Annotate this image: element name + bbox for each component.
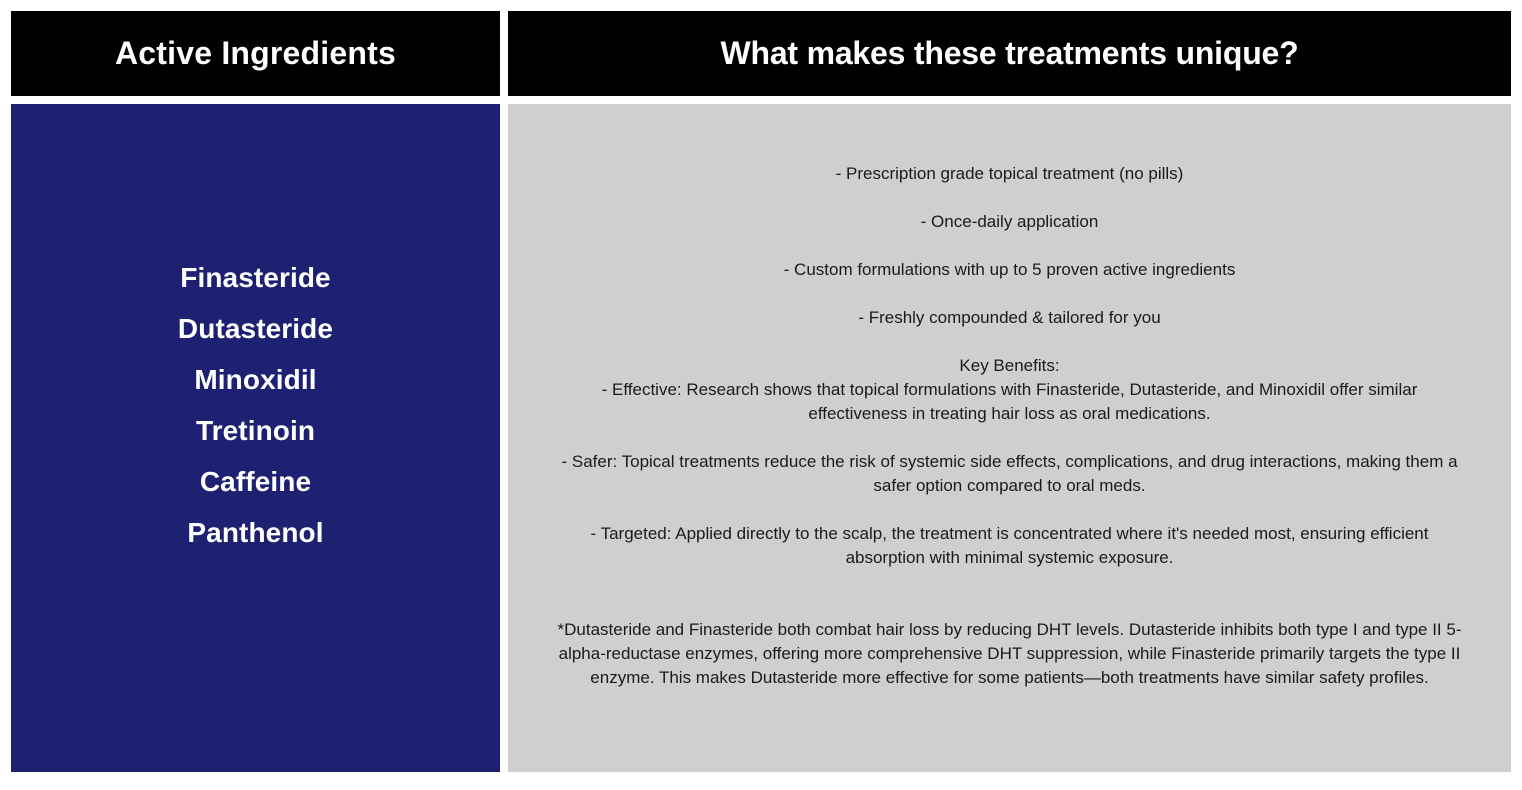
list-item: Panthenol — [187, 507, 323, 558]
column-header-active-ingredients: Active Ingredients — [11, 11, 500, 96]
table-header-row: Active Ingredients What makes these trea… — [11, 11, 1511, 96]
list-item: Finasteride — [180, 252, 330, 303]
column-header-unique: What makes these treatments unique? — [508, 11, 1511, 96]
list-item: Dutasteride — [178, 303, 333, 354]
cell-active-ingredients: Finasteride Dutasteride Minoxidil Tretin… — [11, 104, 500, 772]
benefit-item-effective: - Effective: Research shows that topical… — [560, 378, 1460, 426]
benefit-item-safer: - Safer: Topical treatments reduce the r… — [560, 450, 1460, 498]
footnote-text: *Dutasteride and Finasteride both combat… — [545, 618, 1475, 690]
bullet-item: - Prescription grade topical treatment (… — [836, 162, 1184, 186]
key-benefits-heading: Key Benefits: — [959, 354, 1059, 378]
cell-unique-treatments: - Prescription grade topical treatment (… — [508, 104, 1511, 772]
list-item: Tretinoin — [196, 405, 315, 456]
column-header-active-ingredients-label: Active Ingredients — [115, 36, 396, 71]
list-item: Caffeine — [200, 456, 311, 507]
list-item: Minoxidil — [194, 354, 316, 405]
bullet-item: - Once-daily application — [921, 210, 1099, 234]
bullet-item: - Custom formulations with up to 5 prove… — [784, 258, 1236, 282]
table-body-row: Finasteride Dutasteride Minoxidil Tretin… — [11, 104, 1511, 772]
bullet-item: - Freshly compounded & tailored for you — [858, 306, 1160, 330]
comparison-table: Active Ingredients What makes these trea… — [0, 0, 1522, 790]
column-header-unique-label: What makes these treatments unique? — [720, 35, 1298, 72]
benefit-item-targeted: - Targeted: Applied directly to the scal… — [560, 522, 1460, 570]
